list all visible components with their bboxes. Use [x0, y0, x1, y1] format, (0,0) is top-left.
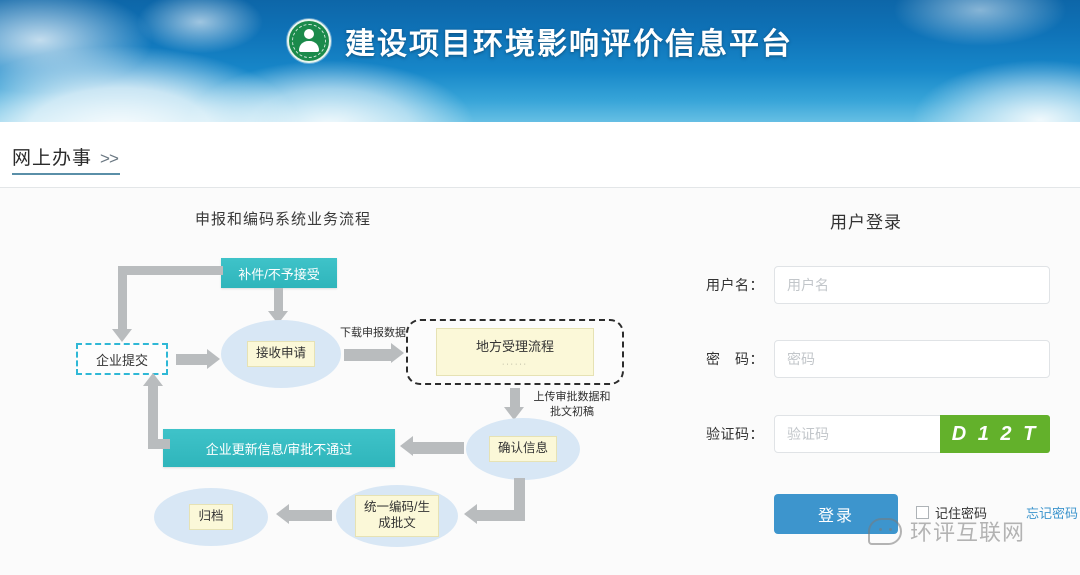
edge-confirm-to-update — [412, 442, 464, 454]
edge-label-upload-data: 上传审批数据和 批文初稿 — [522, 390, 622, 420]
node-unified-code: 统一编码/生 成批文 — [336, 485, 458, 547]
captcha-image[interactable]: D 1 2 T — [940, 415, 1050, 453]
checkbox-icon[interactable] — [916, 506, 929, 519]
username-label: 用户名： — [690, 275, 764, 295]
edge-confirm-to-code-arrowhead — [464, 504, 477, 524]
node-archive-label: 归档 — [189, 504, 232, 530]
edge-receive-to-local — [344, 349, 392, 361]
node-enterprise-update-label: 企业更新信息/审批不通过 — [206, 439, 353, 458]
node-unified-code-line2: 成批文 — [378, 516, 416, 530]
header-inner: 建设项目环境影响评价信息平台 — [0, 10, 1080, 72]
breadcrumb-label: 网上办事 — [12, 143, 92, 170]
login-button[interactable]: 登录 — [774, 494, 898, 534]
login-title: 用户登录 — [676, 208, 1056, 233]
chevron-double-right-icon: >> — [100, 149, 118, 169]
edge-update-to-submit-arrowhead — [143, 373, 163, 386]
node-supplement-reject: 补件/不予接受 — [221, 258, 337, 288]
edge-reject-to-receive-vertical — [274, 288, 283, 313]
node-local-process: 地方受理流程 ······ — [436, 328, 594, 376]
main-content: 申报和编码系统业务流程 补件/不予接受 企业提交 接收申请 下载申报数据 — [0, 188, 1080, 575]
username-input[interactable] — [774, 266, 1050, 304]
edge-label-upload-line1: 上传审批数据和 — [534, 391, 611, 403]
node-supplement-reject-label: 补件/不予接受 — [238, 264, 320, 283]
node-unified-code-label: 统一编码/生 成批文 — [355, 495, 439, 536]
captcha-row: 验证码： D 1 2 T — [690, 415, 1050, 453]
password-input[interactable] — [774, 340, 1050, 378]
node-archive: 归档 — [154, 488, 268, 546]
breadcrumb-underline — [12, 173, 120, 175]
edge-submit-to-receive-arrowhead — [207, 349, 220, 369]
node-receive-application: 接收申请 — [221, 320, 341, 388]
site-header: 建设项目环境影响评价信息平台 — [0, 0, 1080, 122]
username-row: 用户名： — [690, 266, 1050, 304]
edge-label-upload-line2: 批文初稿 — [550, 406, 594, 418]
node-confirm-info-label: 确认信息 — [489, 436, 557, 462]
remember-password-checkbox[interactable]: 记住密码 — [916, 503, 987, 522]
edge-code-to-archive — [288, 510, 332, 521]
emblem-ring — [292, 24, 326, 58]
captcha-label: 验证码： — [690, 424, 764, 444]
edge-label-download-data: 下载申报数据 — [330, 326, 416, 341]
edge-confirm-to-update-arrowhead — [400, 436, 413, 456]
edge-code-to-archive-arrowhead — [276, 504, 289, 524]
node-local-process-sublabel: ······ — [502, 361, 528, 368]
node-enterprise-submit-label: 企业提交 — [96, 350, 148, 369]
node-unified-code-line1: 统一编码/生 — [364, 500, 430, 514]
business-flowchart: 申报和编码系统业务流程 补件/不予接受 企业提交 接收申请 下载申报数据 — [8, 188, 668, 575]
sub-band — [0, 122, 1080, 187]
remember-password-label: 记住密码 — [935, 503, 987, 522]
edge-update-to-submit-vertical — [148, 385, 158, 443]
node-local-process-label: 地方受理流程 — [476, 336, 554, 355]
edge-reject-to-submit-vertical — [118, 266, 127, 331]
password-row: 密 码： — [690, 340, 1050, 378]
forgot-password-link[interactable]: 忘记密码 — [1026, 503, 1078, 522]
edge-reject-to-submit-arrowhead — [112, 329, 132, 342]
page-title: 建设项目环境影响评价信息平台 — [345, 19, 793, 63]
password-label: 密 码： — [690, 349, 764, 369]
node-enterprise-update: 企业更新信息/审批不通过 — [163, 429, 395, 467]
edge-submit-to-receive — [176, 354, 208, 365]
edge-confirm-to-code-horizontal — [476, 510, 525, 521]
mee-emblem-icon — [287, 19, 331, 63]
edge-receive-to-local-arrowhead — [391, 343, 404, 363]
node-confirm-info: 确认信息 — [466, 418, 580, 480]
captcha-wrap: D 1 2 T — [774, 415, 1050, 453]
edge-reject-to-submit-horizontal — [118, 266, 223, 275]
breadcrumb[interactable]: 网上办事 >> — [12, 143, 118, 175]
node-enterprise-submit: 企业提交 — [76, 343, 168, 375]
flowchart-title: 申报和编码系统业务流程 — [0, 208, 613, 229]
node-receive-application-label: 接收申请 — [247, 341, 315, 367]
login-panel: 用户登录 用户名： 密 码： 验证码： D 1 2 T 登录 记住密码 忘记密码 — [676, 188, 1080, 575]
